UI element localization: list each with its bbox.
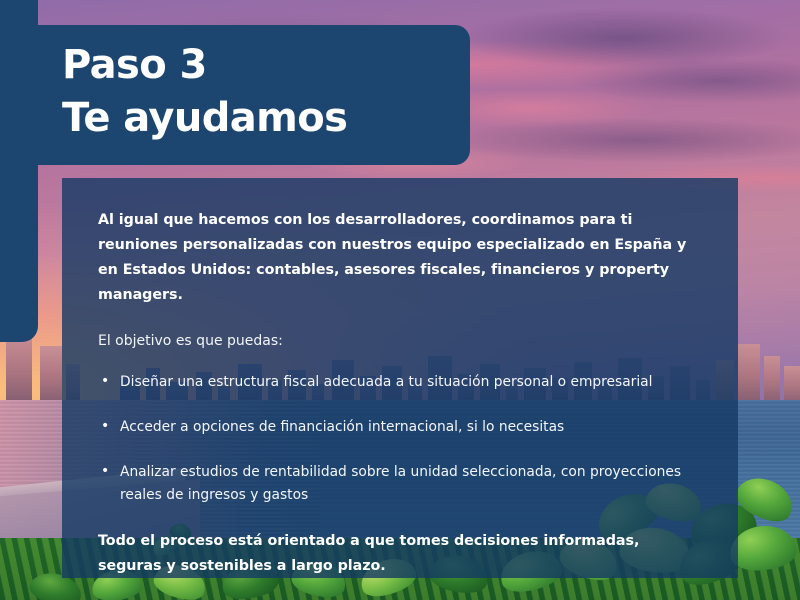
title-line-headline: Te ayudamos bbox=[62, 92, 470, 145]
title-line-step: Paso 3 bbox=[62, 39, 470, 92]
slide-canvas: Paso 3 Te ayudamos Al igual que hacemos … bbox=[0, 0, 800, 600]
title-card: Paso 3 Te ayudamos bbox=[0, 25, 470, 165]
intro-paragraph: Al igual que hacemos con los desarrollad… bbox=[98, 208, 702, 308]
closing-paragraph: Todo el proceso está orientado a que tom… bbox=[98, 529, 702, 579]
lead-in-text: El objetivo es que puedas: bbox=[98, 329, 702, 353]
list-item: Analizar estudios de rentabilidad sobre … bbox=[98, 461, 702, 507]
benefits-list: Diseñar una estructura fiscal adecuada a… bbox=[98, 371, 702, 507]
content-card: Al igual que hacemos con los desarrollad… bbox=[62, 178, 738, 578]
list-item: Diseñar una estructura fiscal adecuada a… bbox=[98, 371, 702, 394]
list-item: Acceder a opciones de financiación inter… bbox=[98, 416, 702, 439]
